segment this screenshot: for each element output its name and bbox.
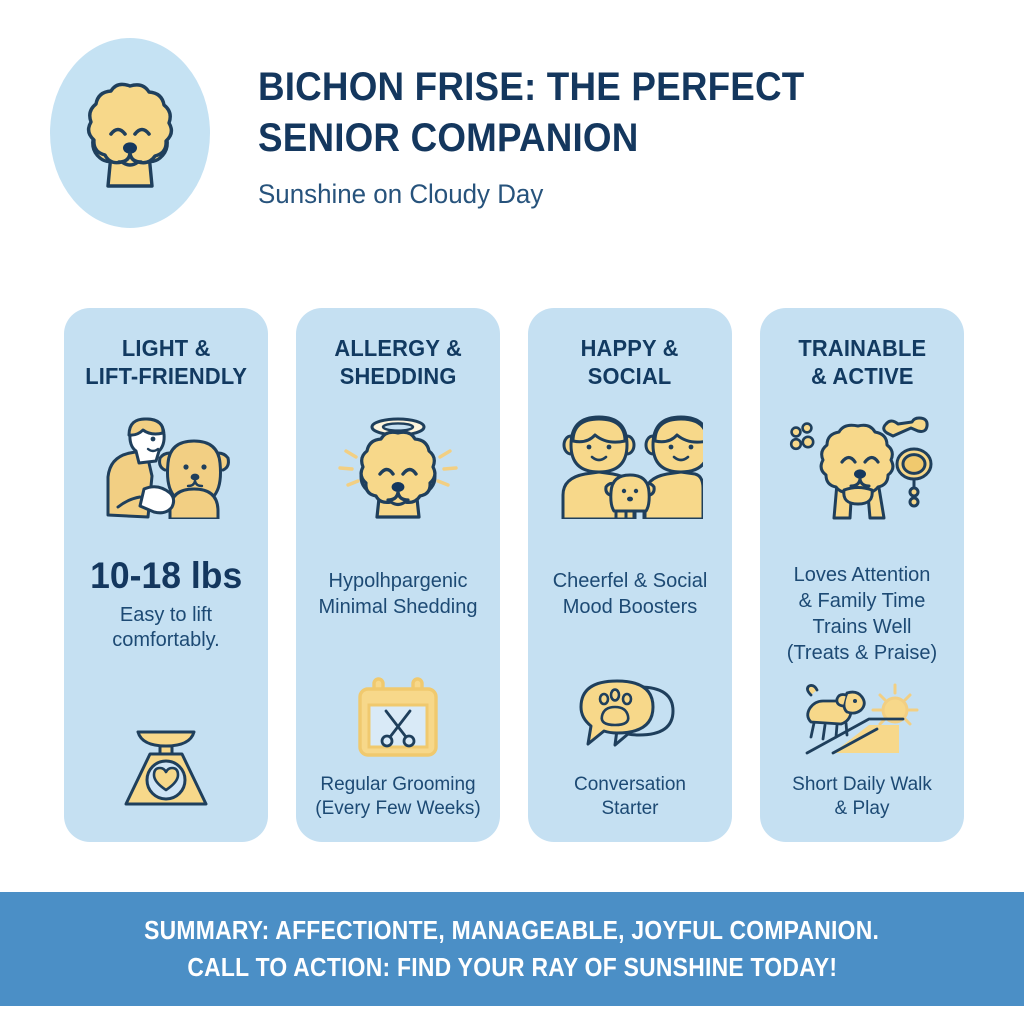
avatar (50, 38, 210, 228)
feature-cards: LIGHT & LIFT-FRIENDLY (64, 308, 964, 842)
card-happy-social[interactable]: HAPPY & SOCIAL (528, 308, 732, 842)
page-title: BICHON FRISE: THE PERFECT SENIOR COMPANI… (258, 62, 804, 164)
card-title: TRAINABLE & ACTIVE (798, 334, 926, 390)
card-body: Cheerfel & Social Mood Boosters (553, 568, 708, 621)
card-title: HAPPY & SOCIAL (581, 334, 679, 390)
header-text: BICHON FRISE: THE PERFECT SENIOR COMPANI… (258, 38, 852, 214)
weight-stat-sub: Easy to lift comfortably. (112, 603, 219, 654)
card-light-lift-friendly[interactable]: LIGHT & LIFT-FRIENDLY (64, 308, 268, 842)
page-subtitle: Sunshine on Cloudy Day (258, 176, 828, 214)
family-with-dog-icon (557, 412, 703, 522)
card-title: ALLERGY & SHEDDING (334, 334, 462, 390)
card-body: Hypolhpargenic Minimal Shedding (319, 568, 478, 621)
card-caption: Conversation Starter (574, 773, 686, 822)
header: BICHON FRISE: THE PERFECT SENIOR COMPANI… (0, 0, 1024, 250)
card-trainable-active[interactable]: TRAINABLE & ACTIVE (760, 308, 964, 842)
kitchen-scale-heart-icon (114, 722, 218, 814)
summary-banner: SUMMARY: AFFECTIONTE, MANAGEABLE, JOYFUL… (0, 892, 1024, 1006)
calendar-scissors-icon (352, 673, 444, 765)
card-body: Loves Attention & Family Time Trains Wel… (787, 562, 937, 666)
card-caption: Regular Grooming (Every Few Weeks) (315, 773, 480, 822)
bichon-dog-face-icon (76, 74, 184, 192)
standing-dog-bone-bowl-icon (786, 412, 938, 522)
weight-stat: 10-18 lbs (90, 556, 242, 597)
card-allergy-shedding[interactable]: ALLERGY & SHEDDING (296, 308, 500, 842)
person-holding-dog-icon (100, 412, 232, 522)
speech-bubbles-paw-icon (577, 673, 683, 765)
summary-line: SUMMARY: AFFECTIONTE, MANAGEABLE, JOYFUL… (144, 912, 879, 949)
call-to-action-line: CALL TO ACTION: FIND YOUR RAY OF SUNSHIN… (187, 949, 837, 986)
infographic-page: BICHON FRISE: THE PERFECT SENIOR COMPANI… (0, 0, 1024, 1024)
angel-dog-halo-icon (334, 412, 462, 522)
card-caption: Short Daily Walk & Play (792, 773, 932, 822)
card-title: LIGHT & LIFT-FRIENDLY (85, 334, 247, 390)
dog-walking-hill-sun-icon (803, 673, 921, 765)
